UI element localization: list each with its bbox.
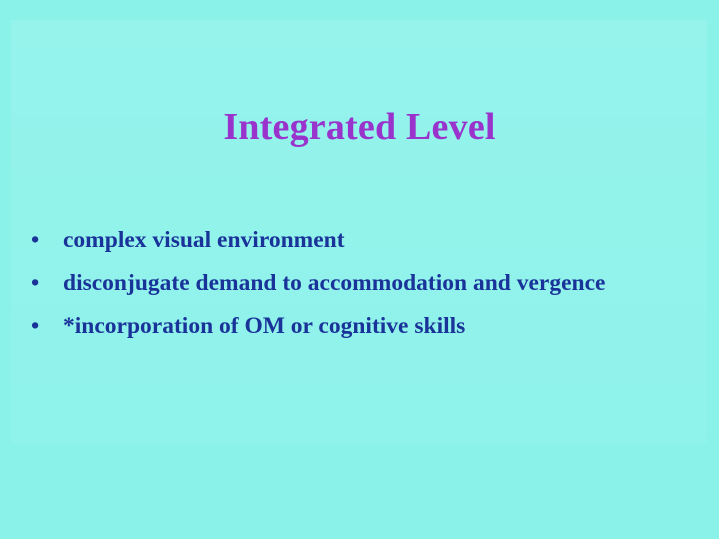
list-item-label: complex visual environment — [63, 221, 709, 260]
list-item: • disconjugate demand to accommodation a… — [0, 264, 719, 303]
list-item: • *incorporation of OM or cognitive skil… — [0, 307, 719, 346]
bullet-list: • complex visual environment • disconjug… — [0, 221, 719, 350]
bullet-dot-icon: • — [31, 264, 45, 303]
list-item: • complex visual environment — [0, 221, 719, 260]
bullet-dot-icon: • — [31, 221, 45, 260]
bullet-dot-icon: • — [31, 307, 45, 346]
presentation-slide: Integrated Level • complex visual enviro… — [0, 0, 719, 539]
list-item-label: disconjugate demand to accommodation and… — [63, 264, 709, 303]
page-title: Integrated Level — [0, 108, 719, 148]
list-item-label: *incorporation of OM or cognitive skills — [63, 307, 709, 346]
